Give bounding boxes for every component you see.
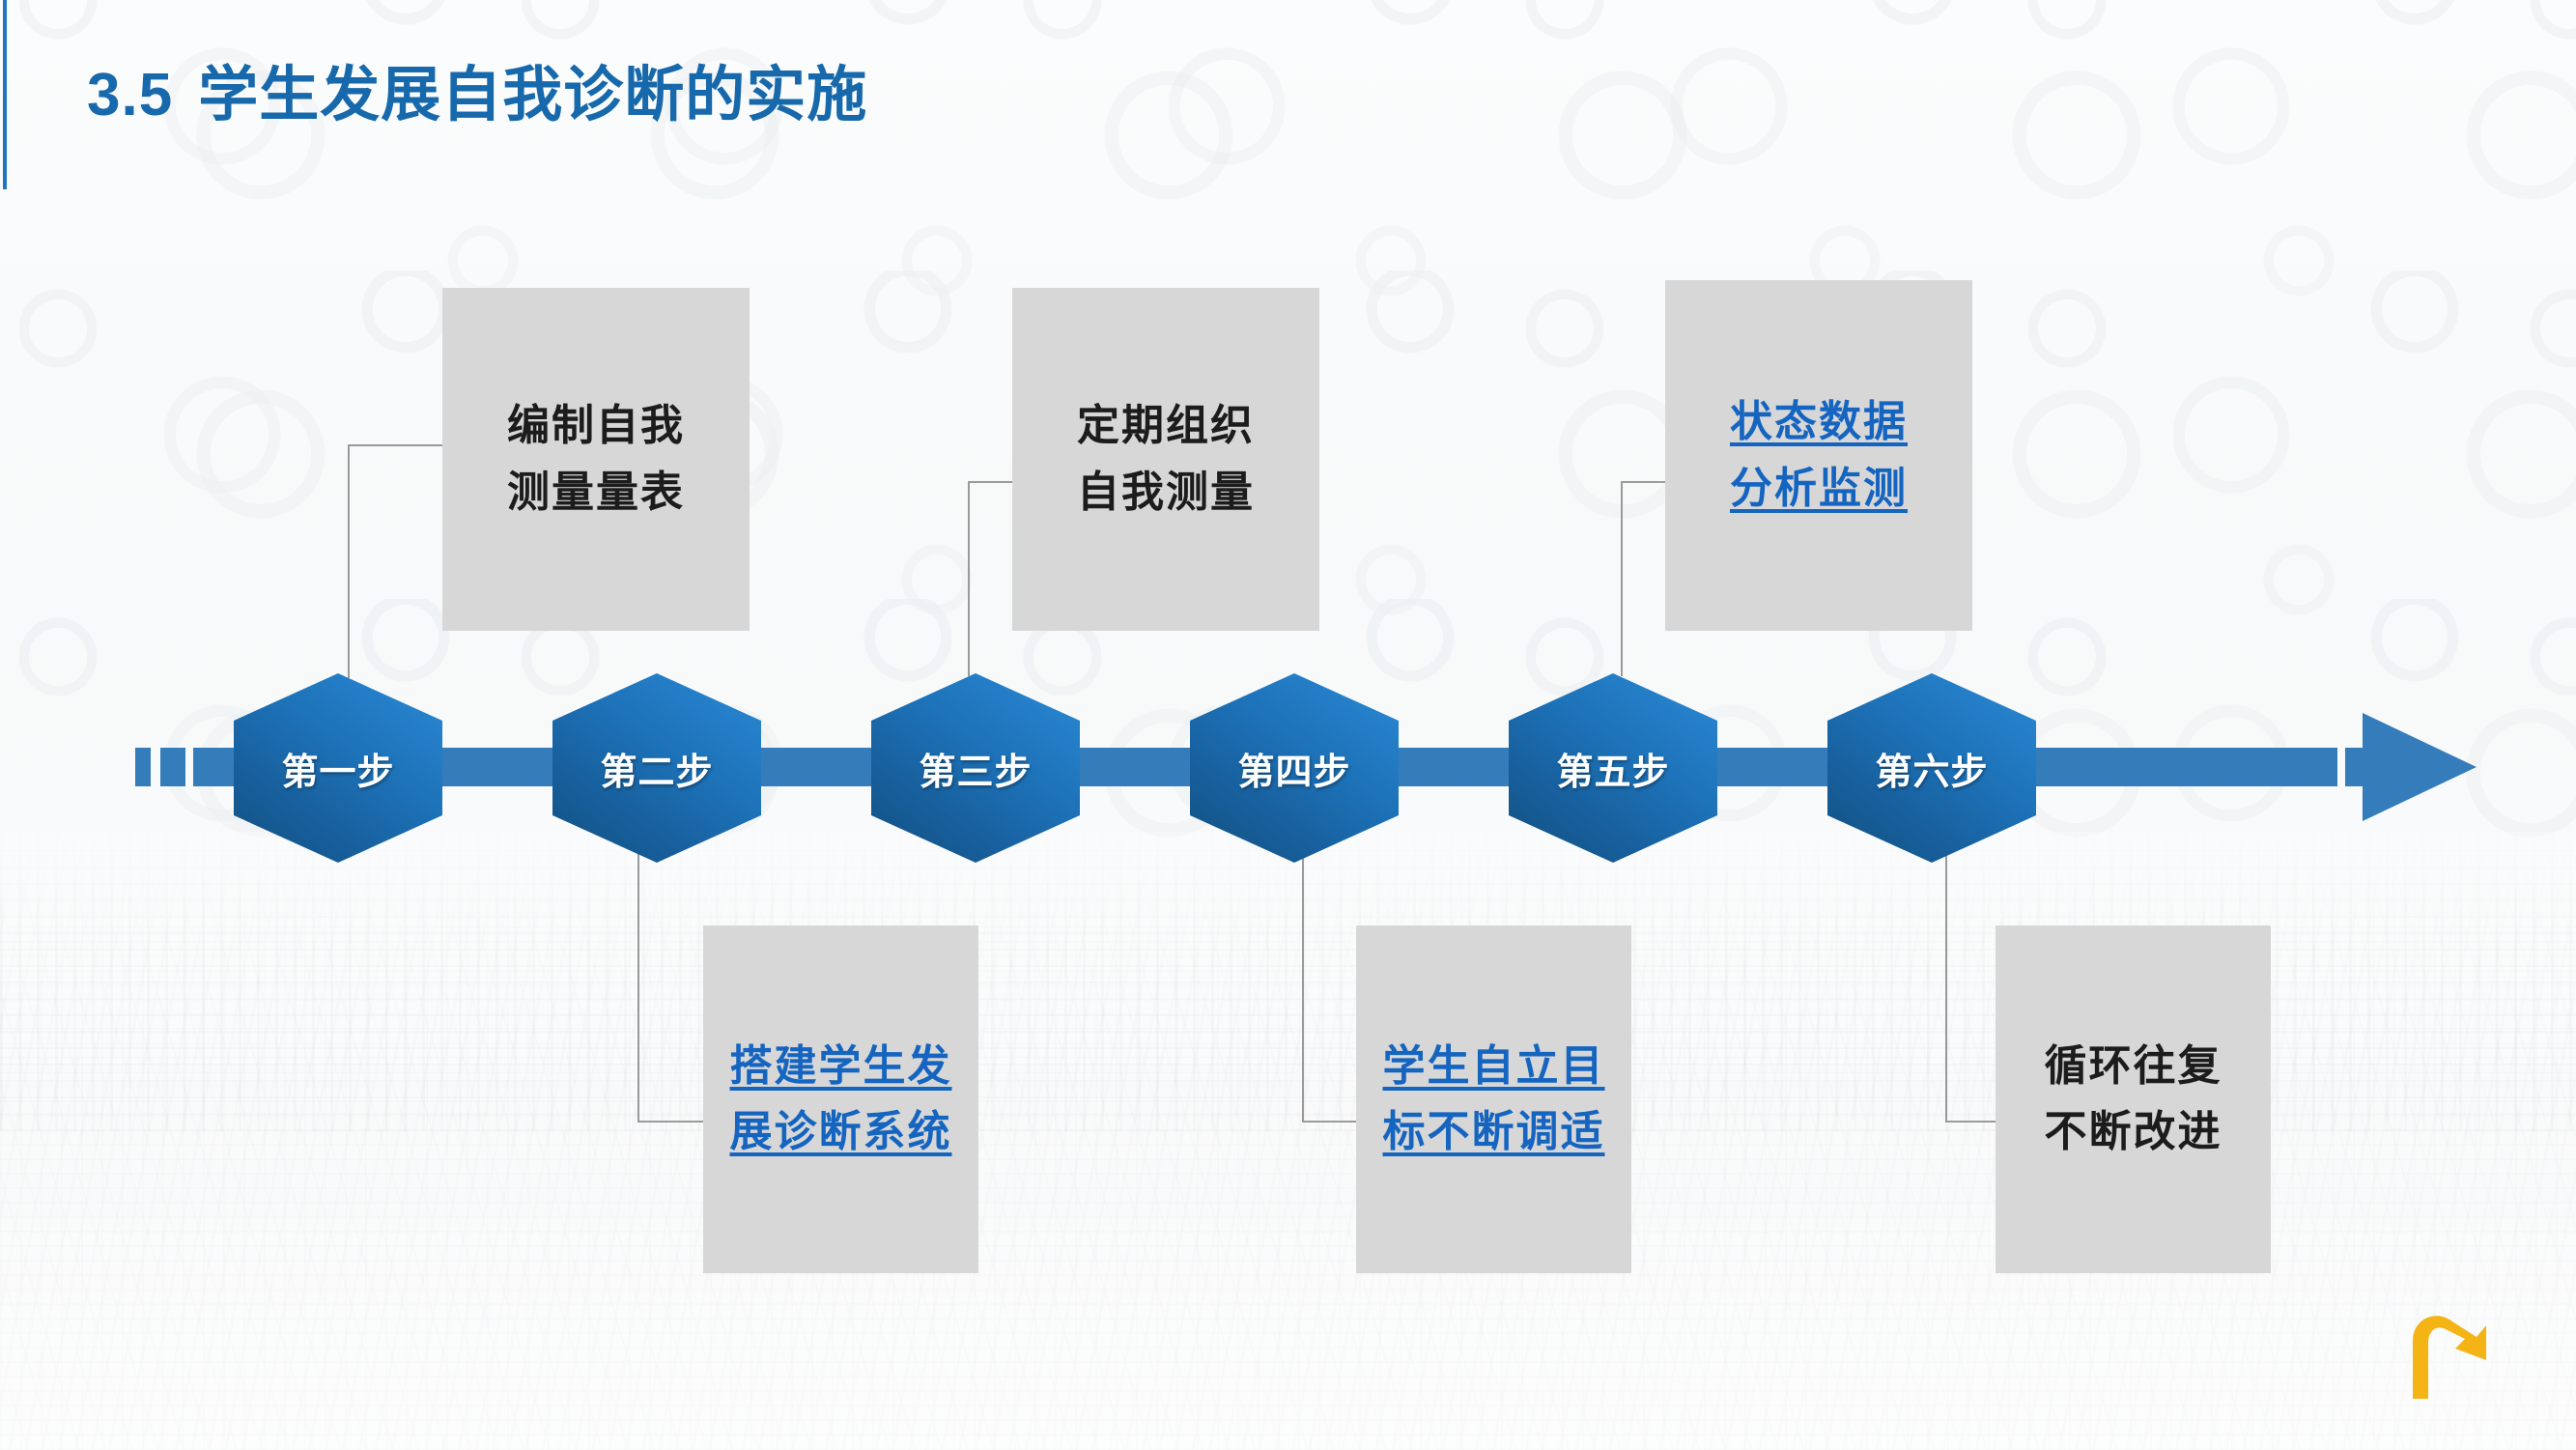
callout-line-2[interactable]: 分析监测 bbox=[1730, 456, 1908, 522]
callout-top-3: 定期组织 自我测量 bbox=[1012, 288, 1319, 631]
callout-line-1[interactable]: 状态数据 bbox=[1730, 389, 1908, 455]
timeline-dash-left-1 bbox=[135, 748, 151, 786]
left-accent-rule bbox=[3, 0, 7, 189]
callout-line-2: 测量量表 bbox=[507, 460, 685, 526]
callout-top-5[interactable]: 状态数据 分析监测 bbox=[1665, 280, 1972, 631]
callout-line-2: 不断改进 bbox=[2045, 1099, 2222, 1165]
slide-canvas: 3.5学生发展自我诊断的实施 编制自我 测量量表 定期组织 自我测量 状态数据 … bbox=[0, 0, 2576, 1450]
step-label: 第五步 bbox=[1556, 742, 1669, 795]
page-title-number: 3.5 bbox=[87, 62, 173, 128]
brand-logo-icon bbox=[2393, 1306, 2494, 1403]
callout-top-1: 编制自我 测量量表 bbox=[442, 288, 750, 631]
timeline-dash-right-1 bbox=[2256, 748, 2293, 786]
page-title-text: 学生发展自我诊断的实施 bbox=[198, 62, 867, 128]
callout-line-1[interactable]: 学生自立目 bbox=[1383, 1034, 1605, 1099]
step-label: 第二步 bbox=[600, 742, 713, 795]
callout-line-1[interactable]: 搭建学生发 bbox=[730, 1034, 952, 1099]
connector-step-4 bbox=[1302, 850, 1360, 1123]
connector-step-5 bbox=[1621, 481, 1669, 676]
connector-step-6 bbox=[1945, 850, 1997, 1123]
page-title: 3.5学生发展自我诊断的实施 bbox=[87, 66, 867, 126]
callout-line-1: 定期组织 bbox=[1077, 393, 1255, 459]
step-label: 第六步 bbox=[1875, 742, 1988, 795]
step-label: 第一步 bbox=[281, 742, 394, 795]
callout-bottom-4[interactable]: 学生自立目 标不断调适 bbox=[1356, 925, 1631, 1273]
step-label: 第四步 bbox=[1237, 742, 1350, 795]
callout-bottom-2[interactable]: 搭建学生发 展诊断系统 bbox=[703, 925, 978, 1273]
callout-line-1: 循环往复 bbox=[2045, 1034, 2222, 1099]
timeline-arrow-head bbox=[2363, 713, 2477, 821]
connector-step-1 bbox=[348, 444, 446, 678]
callout-line-2[interactable]: 展诊断系统 bbox=[730, 1099, 952, 1165]
callout-line-2[interactable]: 标不断调适 bbox=[1383, 1099, 1605, 1165]
callout-line-1: 编制自我 bbox=[507, 393, 685, 459]
timeline-dash-left-2 bbox=[160, 748, 185, 786]
timeline-dash-right-2 bbox=[2301, 748, 2337, 786]
step-label: 第三步 bbox=[919, 742, 1032, 795]
callout-bottom-6: 循环往复 不断改进 bbox=[1996, 925, 2271, 1273]
callout-line-2: 自我测量 bbox=[1077, 460, 1255, 526]
connector-step-3 bbox=[968, 481, 1016, 676]
